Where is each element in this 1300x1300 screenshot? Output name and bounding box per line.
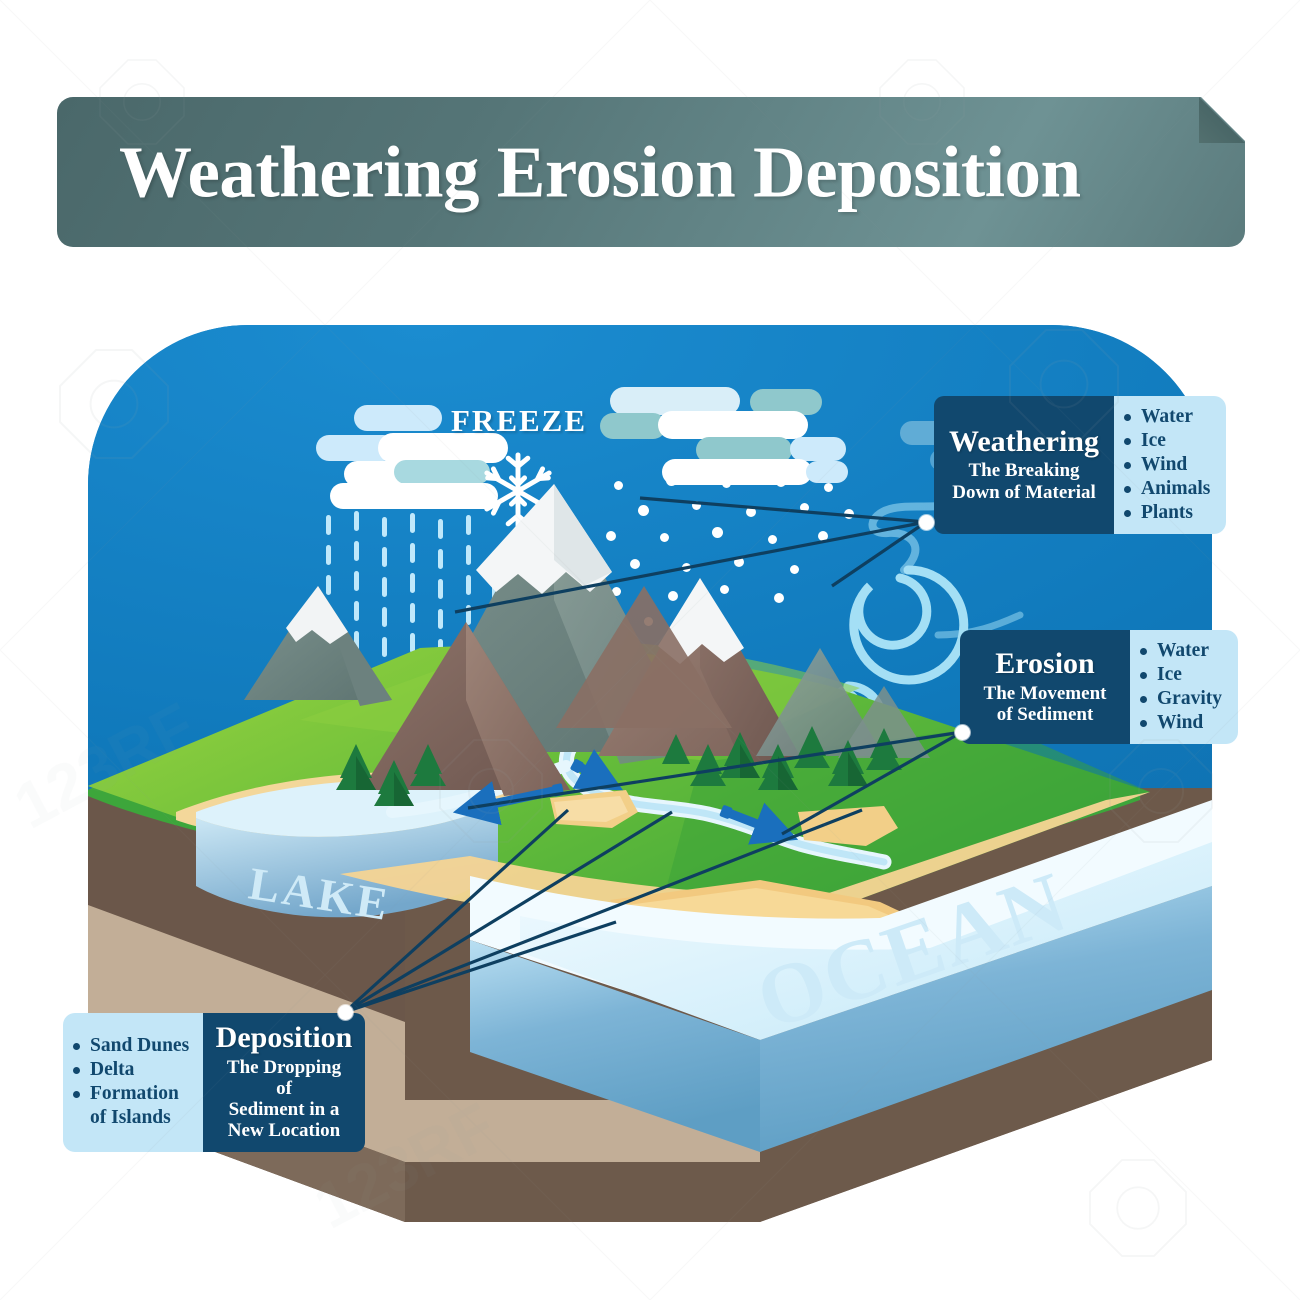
- deposition-subtitle-line3: New Location: [228, 1120, 340, 1141]
- weathering-main-panel: Weathering The Breaking Down of Material: [934, 396, 1114, 534]
- erosion-list-panel: Water Ice Gravity Wind: [1130, 630, 1238, 744]
- list-item: Ice: [1140, 663, 1226, 687]
- erosion-title: Erosion: [995, 649, 1094, 680]
- deposition-title: Deposition: [216, 1023, 353, 1054]
- list-item: Gravity: [1140, 687, 1226, 711]
- weathering-list-panel: Water Ice Wind Animals Plants: [1114, 396, 1226, 534]
- list-item: Water: [1140, 639, 1226, 663]
- list-item: Water: [1124, 405, 1214, 429]
- weathering-subtitle-line2: Down of Material: [952, 482, 1096, 503]
- erosion-subtitle-line2: of Sediment: [997, 704, 1094, 725]
- list-item: Sand Dunes: [73, 1034, 189, 1058]
- weathering-callout-box[interactable]: Weathering The Breaking Down of Material…: [934, 396, 1226, 534]
- list-item: Plants: [1124, 501, 1214, 525]
- list-item: Delta: [73, 1058, 189, 1082]
- list-item: Formation: [73, 1082, 189, 1106]
- weathering-title: Weathering: [949, 427, 1099, 458]
- erosion-connector-dot: [955, 725, 970, 740]
- deposition-list-panel: Sand Dunes Delta Formation of Islands: [63, 1013, 203, 1152]
- deposition-connector-dot: [338, 1005, 353, 1020]
- list-item-continuation: of Islands: [73, 1106, 189, 1130]
- erosion-callout-box[interactable]: Erosion The Movement of Sediment Water I…: [960, 630, 1238, 744]
- list-item: Wind: [1124, 453, 1214, 477]
- deposition-subtitle-line1: The Dropping of: [217, 1057, 351, 1100]
- deposition-subtitle-line2: Sediment in a: [229, 1099, 340, 1120]
- list-item: Wind: [1140, 711, 1226, 735]
- list-item: Ice: [1124, 429, 1214, 453]
- weathering-subtitle-line1: The Breaking: [968, 460, 1079, 481]
- erosion-main-panel: Erosion The Movement of Sediment: [960, 630, 1130, 744]
- weathering-connector-dot: [919, 515, 934, 530]
- list-item: Animals: [1124, 477, 1214, 501]
- deposition-callout-box[interactable]: Sand Dunes Delta Formation of Islands De…: [63, 1013, 365, 1152]
- erosion-subtitle-line1: The Movement: [984, 683, 1107, 704]
- deposition-main-panel: Deposition The Dropping of Sediment in a…: [203, 1013, 365, 1152]
